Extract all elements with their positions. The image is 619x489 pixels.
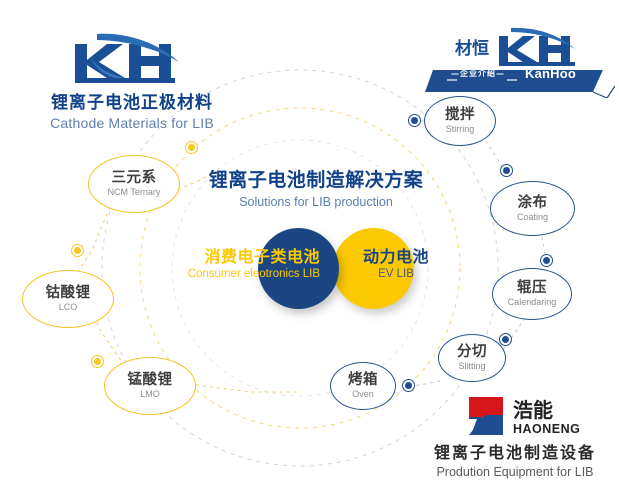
node-slitting[interactable]: 分切 Slitting xyxy=(438,334,506,382)
node-ncm-ternary[interactable]: 三元系 NCM Ternary xyxy=(88,155,180,213)
brand-right: 材恒 —企业介绍— KanHoo xyxy=(425,22,615,98)
connector-dot-lmo xyxy=(92,356,103,367)
svg-text:材恒: 材恒 xyxy=(455,38,489,59)
banner-cn-label: —企业介绍— xyxy=(451,68,505,79)
node-calendaring-cn: 辊压 xyxy=(517,281,547,296)
venn-label-consumer-en: Consumer eleotronics LIB xyxy=(160,268,320,280)
node-stirring-en: Stirring xyxy=(446,124,475,134)
node-stirring[interactable]: 搅拌 Stirring xyxy=(424,96,496,146)
node-coating-en: Coating xyxy=(517,212,548,222)
brand-left-cn: 锂离子电池正极材料 xyxy=(22,88,242,113)
node-lmo-cn: 锰酸锂 xyxy=(128,373,173,388)
node-lmo[interactable]: 锰酸锂 LMO xyxy=(104,357,196,415)
node-ncm-ternary-cn: 三元系 xyxy=(112,171,157,186)
node-ncm-ternary-en: NCM Ternary xyxy=(108,187,161,197)
node-lco[interactable]: 钴酸锂 LCO xyxy=(22,270,114,328)
connector-dot-slitting xyxy=(500,334,511,345)
venn-label-ev: 动力电池 EV LIB xyxy=(348,243,444,280)
node-calendaring-en: Calendaring xyxy=(508,297,557,307)
node-lmo-en: LMO xyxy=(140,389,160,399)
connector-dot-lco xyxy=(72,245,83,256)
svg-text:浩能: 浩能 xyxy=(513,398,553,422)
node-slitting-en: Slitting xyxy=(458,361,485,371)
node-lco-en: LCO xyxy=(59,302,78,312)
connector-dot-coating xyxy=(501,165,512,176)
banner-en-label: KanHoo xyxy=(525,66,576,81)
venn-label-consumer-cn: 消费电子类电池 xyxy=(160,243,320,267)
infographic-canvas: 锂离子电池正极材料 Cathode Materials for LIB 材恒 —… xyxy=(0,0,619,489)
svg-text:HAONENG: HAONENG xyxy=(513,422,580,436)
haoneng-mark-icon: 浩能 HAONENG xyxy=(417,393,613,439)
node-calendaring[interactable]: 辊压 Calendaring xyxy=(492,268,572,320)
venn-label-ev-en: EV LIB xyxy=(348,268,444,280)
node-slitting-cn: 分切 xyxy=(457,345,487,360)
brand-left: 锂离子电池正极材料 Cathode Materials for LIB xyxy=(22,28,242,131)
node-oven[interactable]: 烤箱 Oven xyxy=(330,362,396,410)
center-title-en: Solutions for LIB production xyxy=(196,195,436,209)
connector-dot-ternary xyxy=(186,142,197,153)
node-coating-cn: 涂布 xyxy=(518,196,548,211)
kanhoo-kh-logo-icon xyxy=(22,28,242,86)
node-oven-cn: 烤箱 xyxy=(348,373,378,388)
brand-bottom-cn: 锂离子电池制造设备 xyxy=(417,439,613,463)
center-title: 锂离子电池制造解决方案 Solutions for LIB production xyxy=(196,165,436,209)
connector-dot-oven xyxy=(403,380,414,391)
center-title-cn: 锂离子电池制造解决方案 xyxy=(196,165,436,192)
node-oven-en: Oven xyxy=(352,389,374,399)
connector-dot-stirring xyxy=(409,115,420,126)
venn-label-ev-cn: 动力电池 xyxy=(348,243,444,267)
node-coating[interactable]: 涂布 Coating xyxy=(490,181,575,236)
node-stirring-cn: 搅拌 xyxy=(445,108,475,123)
connector-dot-calendaring xyxy=(541,255,552,266)
node-lco-cn: 钴酸锂 xyxy=(46,286,91,301)
brand-bottom-en: Prodution Equipment for LIB xyxy=(417,465,613,479)
venn-label-consumer: 消费电子类电池 Consumer eleotronics LIB xyxy=(160,243,320,280)
brand-left-en: Cathode Materials for LIB xyxy=(22,115,242,131)
brand-bottom: 浩能 HAONENG 锂离子电池制造设备 Prodution Equipment… xyxy=(417,393,613,479)
